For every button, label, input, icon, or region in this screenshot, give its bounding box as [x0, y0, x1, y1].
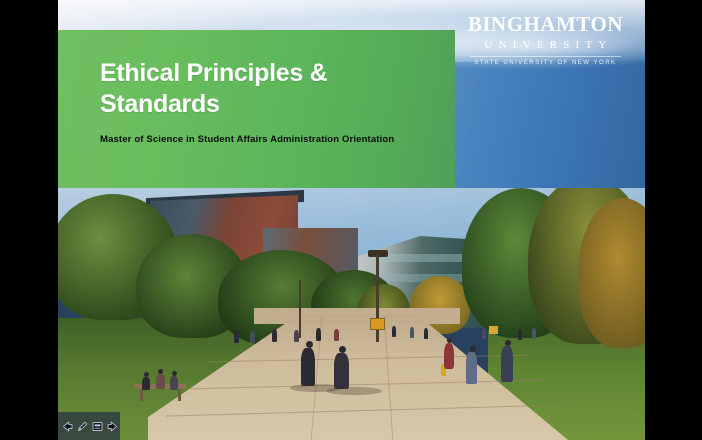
person-distant [424, 328, 428, 339]
person-distant [532, 328, 536, 339]
person-distant [294, 330, 299, 342]
campus-photograph [58, 188, 645, 440]
bench-leg [178, 389, 181, 401]
slide-subtitle: Master of Science in Student Affairs Adm… [100, 134, 420, 147]
campus-sign [489, 326, 498, 334]
binghamton-university-logo: BINGHAMTON UNIVERSITY STATE UNIVERSITY O… [468, 14, 623, 66]
person-head [339, 346, 346, 353]
next-slide-button[interactable] [106, 420, 119, 433]
person-walking [301, 348, 315, 386]
lamp-post [299, 280, 301, 338]
logo-university-text: UNIVERSITY [468, 37, 623, 54]
bench-leg [140, 389, 143, 401]
person-walking [501, 346, 513, 382]
person-distant [250, 331, 255, 343]
person-head [306, 341, 313, 348]
logo-wordmark: BINGHAMTON [468, 14, 623, 35]
previous-slide-button[interactable] [61, 420, 74, 433]
notes-page-icon[interactable] [91, 420, 104, 433]
campus-sign [370, 318, 385, 330]
person-seated [170, 376, 178, 390]
logo-divider [470, 56, 621, 57]
person-seated [156, 374, 165, 389]
person-distant [410, 327, 414, 338]
person-walking [444, 343, 454, 369]
presentation-slide: Ethical Principles & Standards Master of… [58, 0, 645, 440]
person-seated [142, 377, 150, 390]
person-walking [334, 353, 349, 389]
player-controls [58, 412, 120, 440]
slide-title: Ethical Principles & Standards [100, 58, 430, 119]
person-distant [316, 328, 321, 341]
video-player: Ethical Principles & Standards Master of… [0, 0, 702, 440]
person-distant [392, 326, 396, 337]
person-distant [482, 328, 486, 339]
person-distant [272, 329, 277, 342]
person-distant [334, 329, 339, 341]
pencil-icon[interactable] [76, 420, 89, 433]
letterbox-bar-right [645, 0, 702, 440]
person-shadow [326, 387, 382, 395]
title-banner: Ethical Principles & Standards Master of… [58, 30, 455, 188]
person-distant [234, 330, 239, 343]
letterbox-bar-left [0, 0, 58, 440]
person-distant [518, 329, 522, 340]
logo-tagline: STATE UNIVERSITY OF NEW YORK [468, 60, 623, 66]
person-walking [466, 352, 477, 384]
